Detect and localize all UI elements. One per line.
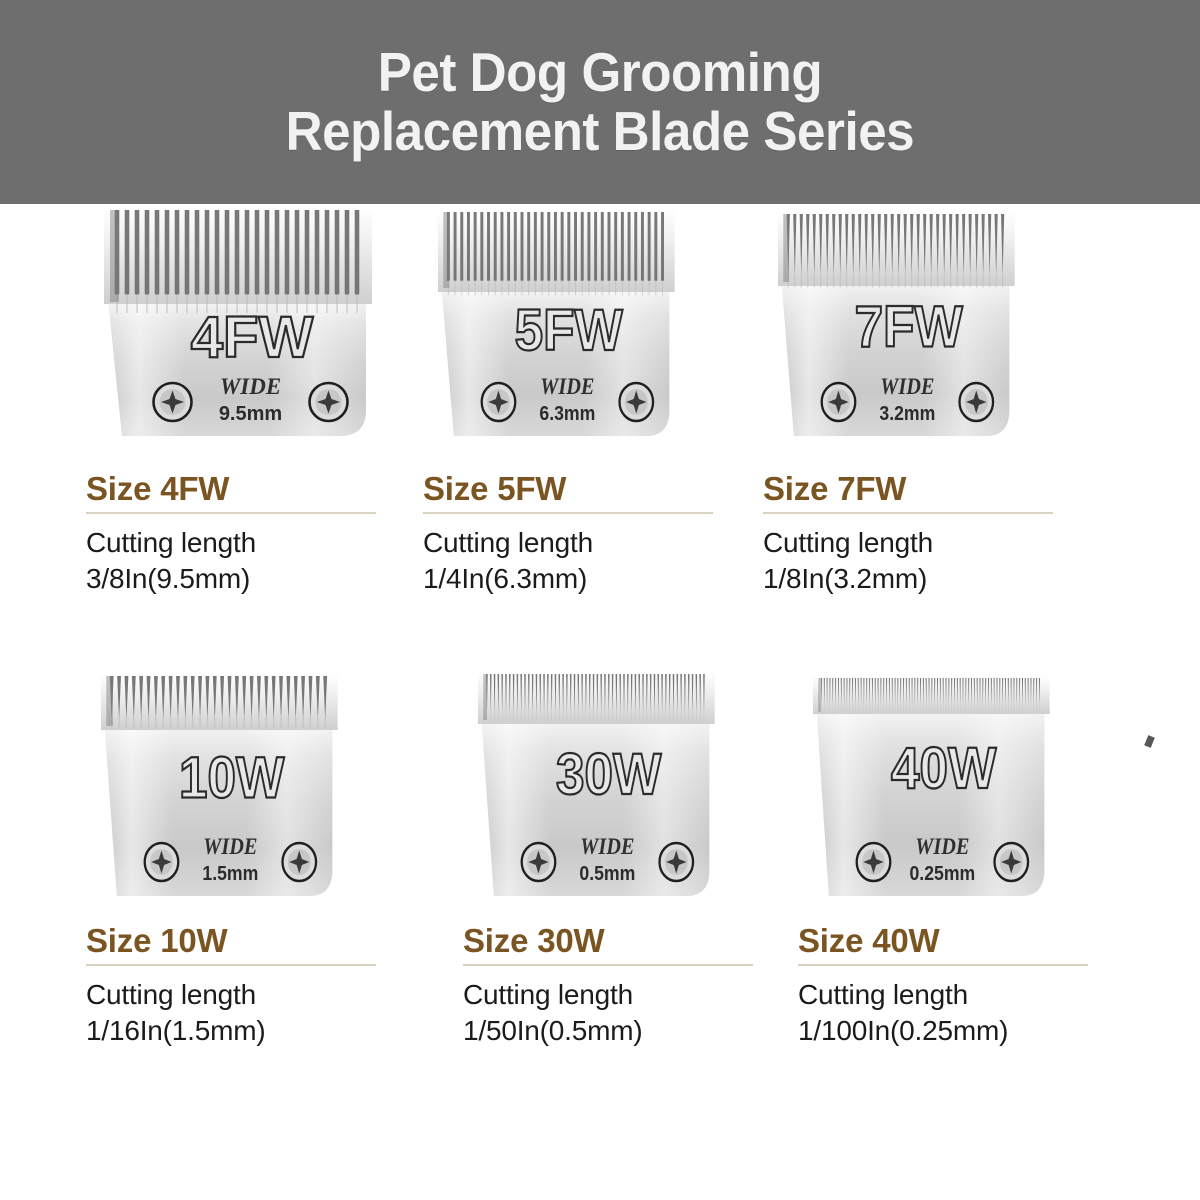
product-title: Size 30W	[463, 924, 793, 957]
product-card-10w[interactable]: 10WWIDE1.5mm Size 10W Cutting length 1/1…	[78, 664, 418, 1144]
svg-text:7FW: 7FW	[855, 294, 963, 360]
title-divider	[463, 964, 753, 966]
product-title: Size 40W	[798, 924, 1128, 957]
product-description: Cutting length 1/16In(1.5mm)	[86, 977, 416, 1050]
svg-text:9.5mm: 9.5mm	[219, 403, 282, 425]
svg-text:3.2mm: 3.2mm	[879, 402, 935, 424]
product-label-7fw: Size 7FW Cutting length 1/8In(3.2mm)	[763, 472, 1093, 598]
blade-image-5fw: 5FWWIDE6.3mm	[415, 204, 680, 459]
product-description: Cutting length 1/50In(0.5mm)	[463, 977, 793, 1050]
description-line-2: 1/50In(0.5mm)	[463, 1013, 793, 1049]
svg-text:WIDE: WIDE	[203, 834, 257, 859]
product-title: Size 10W	[86, 924, 416, 957]
description-line-2: 1/4In(6.3mm)	[423, 561, 753, 597]
svg-text:40W: 40W	[891, 735, 997, 801]
blade-image-4fw: 4FWWIDE9.5mm	[78, 204, 378, 459]
product-label-5fw: Size 5FW Cutting length 1/4In(6.3mm)	[423, 472, 753, 598]
svg-text:WIDE: WIDE	[220, 374, 281, 399]
product-card-40w[interactable]: 40WWIDE0.25mm Size 40W Cutting length 1/…	[790, 664, 1130, 1144]
product-row-top: 4FWWIDE9.5mm Size 4FW Cutting length 3/8…	[0, 204, 1200, 702]
svg-text:30W: 30W	[556, 741, 662, 807]
description-line-1: Cutting length	[423, 525, 753, 561]
svg-text:WIDE: WIDE	[915, 834, 969, 859]
product-description: Cutting length 3/8In(9.5mm)	[86, 525, 416, 598]
svg-text:WIDE: WIDE	[880, 374, 934, 399]
blade-image-7fw: 7FWWIDE3.2mm	[755, 204, 1020, 459]
product-title: Size 7FW	[763, 472, 1093, 505]
title-divider	[798, 964, 1088, 966]
svg-text:6.3mm: 6.3mm	[539, 402, 595, 424]
product-label-30w: Size 30W Cutting length 1/50In(0.5mm)	[463, 924, 793, 1050]
product-title: Size 5FW	[423, 472, 753, 505]
description-line-1: Cutting length	[86, 525, 416, 561]
product-card-4fw[interactable]: 4FWWIDE9.5mm Size 4FW Cutting length 3/8…	[78, 204, 418, 684]
svg-text:5FW: 5FW	[515, 297, 623, 363]
description-line-2: 3/8In(9.5mm)	[86, 561, 416, 597]
product-title: Size 4FW	[86, 472, 416, 505]
title-divider	[763, 512, 1053, 514]
product-description: Cutting length 1/8In(3.2mm)	[763, 525, 1093, 598]
svg-text:4FW: 4FW	[191, 305, 314, 370]
header-title-line-1: Pet Dog Grooming	[378, 43, 822, 102]
description-line-1: Cutting length	[763, 525, 1093, 561]
description-line-2: 1/16In(1.5mm)	[86, 1013, 416, 1049]
product-description: Cutting length 1/100In(0.25mm)	[798, 977, 1128, 1050]
product-label-10w: Size 10W Cutting length 1/16In(1.5mm)	[86, 924, 416, 1050]
title-divider	[423, 512, 713, 514]
product-label-40w: Size 40W Cutting length 1/100In(0.25mm)	[798, 924, 1128, 1050]
svg-text:10W: 10W	[179, 744, 285, 810]
description-line-1: Cutting length	[463, 977, 793, 1013]
svg-text:WIDE: WIDE	[580, 834, 634, 859]
product-grid: 4FWWIDE9.5mm Size 4FW Cutting length 3/8…	[0, 204, 1200, 1200]
product-card-5fw[interactable]: 5FWWIDE6.3mm Size 5FW Cutting length 1/4…	[415, 204, 755, 684]
blade-image-30w: 30WWIDE0.5mm	[455, 664, 720, 919]
product-card-7fw[interactable]: 7FWWIDE3.2mm Size 7FW Cutting length 1/8…	[755, 204, 1095, 684]
description-line-2: 1/8In(3.2mm)	[763, 561, 1093, 597]
description-line-2: 1/100In(0.25mm)	[798, 1013, 1128, 1049]
svg-text:WIDE: WIDE	[540, 374, 594, 399]
product-description: Cutting length 1/4In(6.3mm)	[423, 525, 753, 598]
product-row-bottom: 10WWIDE1.5mm Size 10W Cutting length 1/1…	[0, 664, 1200, 1162]
title-divider	[86, 512, 376, 514]
title-divider	[86, 964, 376, 966]
description-line-1: Cutting length	[86, 977, 416, 1013]
header-title-line-2: Replacement Blade Series	[286, 102, 915, 161]
blade-image-40w: 40WWIDE0.25mm	[790, 664, 1055, 919]
svg-text:0.25mm: 0.25mm	[909, 862, 975, 884]
blade-image-10w: 10WWIDE1.5mm	[78, 664, 343, 919]
svg-text:0.5mm: 0.5mm	[579, 862, 635, 884]
header-banner: Pet Dog Grooming Replacement Blade Serie…	[0, 0, 1200, 204]
product-card-30w[interactable]: 30WWIDE0.5mm Size 30W Cutting length 1/5…	[455, 664, 795, 1144]
svg-text:1.5mm: 1.5mm	[202, 862, 258, 884]
product-label-4fw: Size 4FW Cutting length 3/8In(9.5mm)	[86, 472, 416, 598]
description-line-1: Cutting length	[798, 977, 1128, 1013]
